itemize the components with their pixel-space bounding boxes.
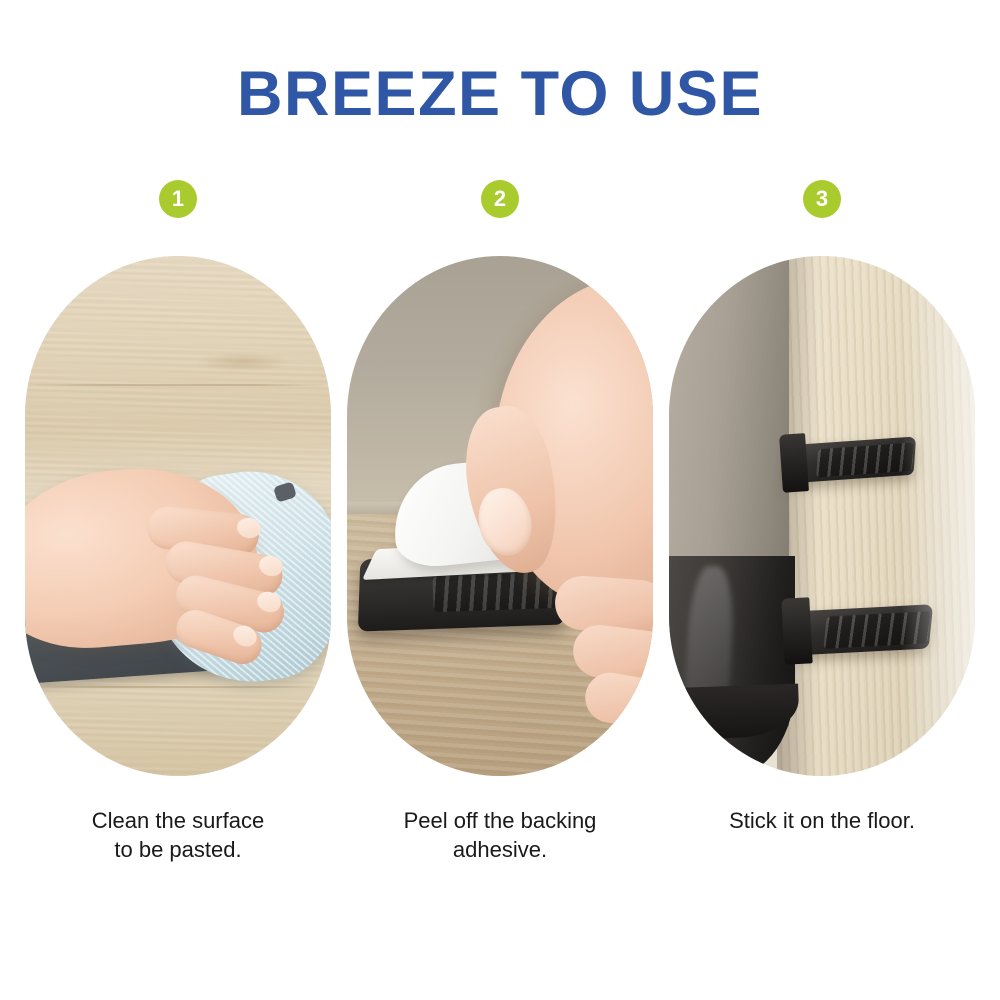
scene-stick-on-floor [669,256,975,776]
steps-row: 1 [25,180,975,910]
step-number-badge-3: 3 [803,180,841,218]
step-image-2 [347,256,653,776]
step-1: 1 [25,180,331,910]
page-title: BREEZE TO USE [0,58,1000,130]
product-instruction-graphic: BREEZE TO USE 1 [0,0,1000,1000]
plank-seam [25,384,331,386]
step-image-1 [25,256,331,776]
step-number-badge-2: 2 [481,180,519,218]
step-2: 2 Pe [347,180,653,910]
plank-seam [25,686,331,688]
wood-knot [195,352,291,372]
step-image-3 [669,256,975,776]
edge-light-fade [901,256,975,776]
scene-peel-backing [347,256,653,776]
step-number-badge-1: 1 [159,180,197,218]
door-stopper-upper-foot [779,433,809,493]
scene-clean-surface [25,256,331,776]
step-3: 3 Stick it on [669,180,975,910]
step-caption-1: Clean the surface to be pasted. [25,806,331,864]
step-caption-2: Peel off the backing adhesive. [347,806,653,864]
door-stopper-lower-foot [781,597,812,664]
step-caption-3: Stick it on the floor. [669,806,975,835]
